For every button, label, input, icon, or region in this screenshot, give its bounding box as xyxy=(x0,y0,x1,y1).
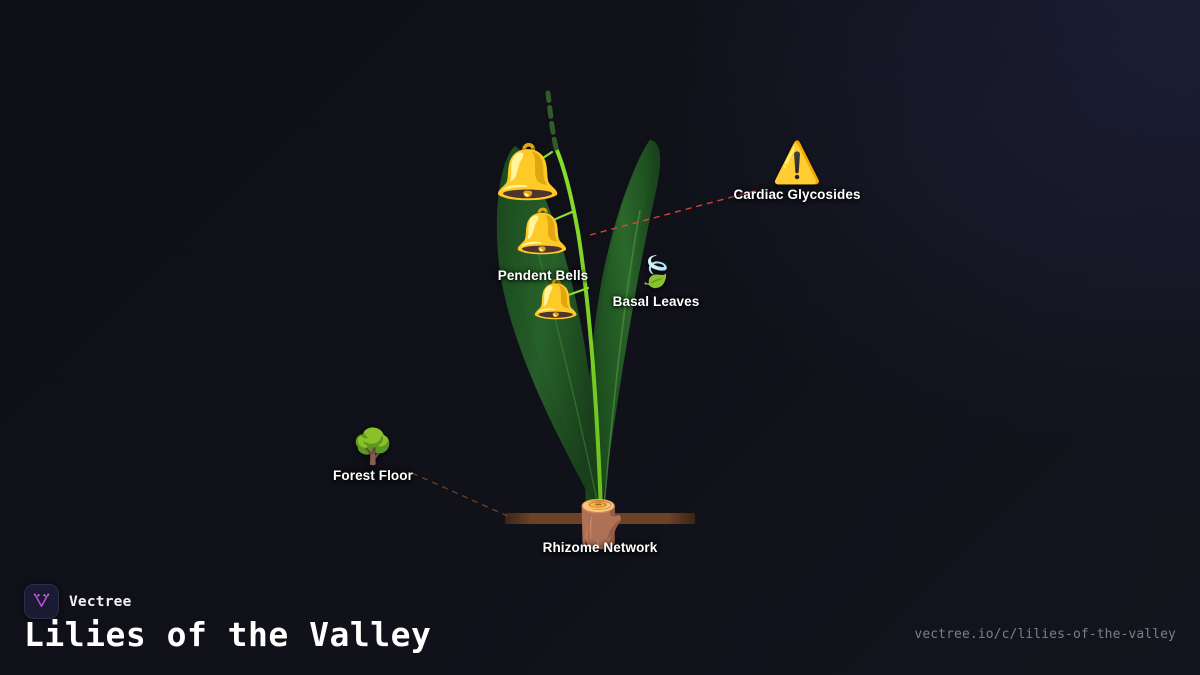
warning-triangle-icon: ⚠️ xyxy=(772,143,822,183)
bell-icon-3: 🔔 xyxy=(532,278,579,321)
node-label-basal-leaves: Basal Leaves xyxy=(613,294,700,309)
bell-icon-2: 🔔 xyxy=(515,207,570,256)
node-cardiac-glycosides[interactable]: ⚠️ Cardiac Glycosides xyxy=(733,143,860,202)
node-label-forest-floor: Forest Floor xyxy=(333,468,413,483)
footer-url: vectree.io/c/lilies-of-the-valley xyxy=(914,627,1176,642)
node-label-cardiac-glycosides: Cardiac Glycosides xyxy=(733,187,860,202)
node-forest-floor[interactable]: 🌳 Forest Floor xyxy=(333,430,413,483)
node-label-pendent-bells: Pendent Bells xyxy=(498,268,589,283)
deciduous-tree-icon: 🌳 xyxy=(352,430,394,464)
connector-habitat xyxy=(412,473,512,518)
node-pendent-bells[interactable]: 🔔 Pendent Bells xyxy=(498,268,589,283)
leaf-fluttering-icon: 🍃 xyxy=(637,258,674,288)
bell-icon-1: 🔔 xyxy=(494,142,561,202)
brand-row[interactable]: Vectree xyxy=(24,584,132,619)
brand-name: Vectree xyxy=(69,594,132,610)
leaf-shape-front-wide xyxy=(497,147,602,516)
stem-growth-dash xyxy=(548,93,556,148)
node-label-rhizome-network: Rhizome Network xyxy=(543,540,658,555)
footer: Vectree Lilies of the Valley vectree.io/… xyxy=(0,567,1200,675)
node-basal-leaves[interactable]: 🍃 Basal Leaves xyxy=(613,258,700,309)
infographic-canvas: 🔔 🔔 🔔 🪵 🔔 Pendent Bells 🍃 Basal Leaves ⚠… xyxy=(0,0,1200,675)
vectree-logo-icon xyxy=(24,584,59,619)
node-rhizome-network[interactable]: 🪵 Rhizome Network xyxy=(543,498,658,555)
page-title: Lilies of the Valley xyxy=(24,615,431,654)
